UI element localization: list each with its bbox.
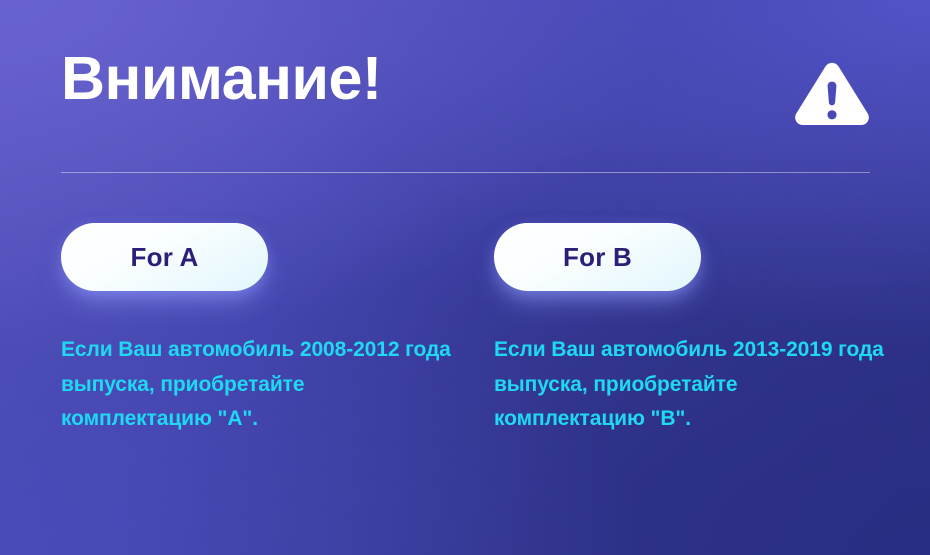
option-column-b: For B Если Ваш автомобиль 2013-2019 года… <box>494 223 701 437</box>
for-b-button[interactable]: For B <box>494 223 701 291</box>
option-a-description: Если Ваш автомобиль 2008-2012 года выпус… <box>61 291 451 437</box>
options-row: For A Если Ваш автомобиль 2008-2012 года… <box>61 223 870 437</box>
warning-triangle-icon <box>794 62 870 130</box>
header-divider <box>61 172 870 173</box>
option-column-a: For A Если Ваш автомобиль 2008-2012 года… <box>61 223 268 437</box>
warning-banner: Внимание! For A Если Ваш автомобиль 2008… <box>0 0 930 555</box>
page-title: Внимание! <box>61 46 382 112</box>
for-a-button[interactable]: For A <box>61 223 268 291</box>
option-b-description: Если Ваш автомобиль 2013-2019 года выпус… <box>494 291 884 437</box>
banner-header: Внимание! <box>61 46 870 150</box>
